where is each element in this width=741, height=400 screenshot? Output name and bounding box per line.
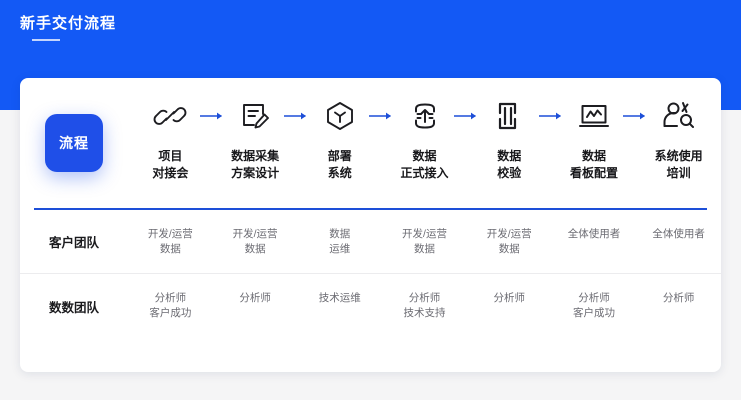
table-cell-line1: 全体使用者 [636,227,721,242]
flow-step-4-label: 数据 正式接入 [401,148,449,182]
table-cell-line1: 分析师 [382,291,467,306]
table-row: 数数团队 分析师 客户成功 分析师 技术运维 分析师 [20,274,721,338]
flow-step-5-label: 数据 校验 [497,148,521,182]
table-cell-line2: 数据 [467,242,552,257]
page-root: 新手交付流程 流程 项目 [0,0,741,400]
flow-step-3-label-line2: 系统 [328,165,352,182]
table-cell-line1: 开发/运营 [213,227,298,242]
table-row-cells: 分析师 客户成功 分析师 技术运维 分析师 技术支持 [128,291,721,321]
flow-step-1-label-line2: 对接会 [152,165,188,182]
steps-container: 项目 对接会 [128,78,721,208]
table-cell: 开发/运营 数据 [213,227,298,257]
table-cell: 开发/运营 数据 [382,227,467,257]
flow-step-2-label: 数据采集 方案设计 [231,148,279,182]
table-cell-line1: 分析师 [213,291,298,306]
copy-verify-icon [487,96,531,136]
page-title: 新手交付流程 [20,12,116,33]
table-cell: 分析师 [213,291,298,321]
hexagon-deploy-icon [318,96,362,136]
data-upload-icon [403,96,447,136]
flow-step-5-label-line1: 数据 [497,148,521,165]
flow-step-5-label-line2: 校验 [497,165,521,182]
table-cell-line2: 技术支持 [382,306,467,321]
table-row-head-shushu-team: 数数团队 [20,297,128,316]
flow-step-7-label: 系统使用 培训 [655,148,703,182]
flow-step-1-label: 项目 对接会 [152,148,188,182]
table-cell-line1: 分析师 [552,291,637,306]
table-row: 客户团队 开发/运营 数据 开发/运营 数据 数据 运维 开 [20,210,721,274]
flow-badge-cell: 流程 [20,78,128,208]
flow-step-6-label-line1: 数据 [570,148,618,165]
flow-step-4[interactable]: 数据 正式接入 [382,78,467,182]
flow-step-5[interactable]: 数据 校验 [467,78,552,182]
table-cell-line1: 分析师 [128,291,213,306]
table-row-head-customer-team: 客户团队 [20,232,128,251]
table-cell-line2: 数据 [128,242,213,257]
flow-step-6[interactable]: 数据 看板配置 [552,78,637,182]
table-row-cells: 开发/运营 数据 开发/运营 数据 数据 运维 开发/运营 数据 [128,227,721,257]
flow-step-7-label-line2: 培训 [655,165,703,182]
table-cell-line1: 数据 [297,227,382,242]
table-cell-line2: 客户成功 [552,306,637,321]
table-cell: 分析师 [636,291,721,321]
flow-step-2-label-line1: 数据采集 [231,148,279,165]
chart-monitor-icon [572,96,616,136]
link-icon [148,96,192,136]
table-cell-line1: 全体使用者 [552,227,637,242]
flow-badge: 流程 [45,114,103,172]
flow-step-7-label-line1: 系统使用 [655,148,703,165]
title-underline-accent [32,39,60,41]
table-cell-line1: 开发/运营 [382,227,467,242]
table-cell-line1: 开发/运营 [128,227,213,242]
table-cell: 全体使用者 [636,227,721,257]
user-training-icon [657,96,701,136]
flow-step-7[interactable]: 系统使用 培训 [636,78,721,182]
flow-step-1[interactable]: 项目 对接会 [128,78,213,182]
table-cell: 全体使用者 [552,227,637,257]
flow-step-6-label: 数据 看板配置 [570,148,618,182]
flow-step-3[interactable]: 部署 系统 [297,78,382,182]
flow-step-4-label-line2: 正式接入 [401,165,449,182]
flow-step-4-label-line1: 数据 [401,148,449,165]
table-cell-line2: 运维 [297,242,382,257]
table-cell: 分析师 [467,291,552,321]
flow-step-3-label: 部署 系统 [328,148,352,182]
table-cell: 分析师 客户成功 [128,291,213,321]
table-cell: 技术运维 [297,291,382,321]
table-cell-line1: 分析师 [467,291,552,306]
flow-step-1-label-line1: 项目 [152,148,188,165]
flow-card: 流程 项目 对接会 [20,78,721,372]
flow-step-6-label-line2: 看板配置 [570,165,618,182]
table-cell: 分析师 客户成功 [552,291,637,321]
table-cell-line1: 技术运维 [297,291,382,306]
flow-step-3-label-line1: 部署 [328,148,352,165]
flow-step-2[interactable]: 数据采集 方案设计 [213,78,298,182]
table-cell: 开发/运营 数据 [128,227,213,257]
table-cell-line2: 数据 [213,242,298,257]
flow-step-2-label-line2: 方案设计 [231,165,279,182]
document-edit-icon [233,96,277,136]
table-cell: 开发/运营 数据 [467,227,552,257]
table-cell: 数据 运维 [297,227,382,257]
table-cell-line2: 数据 [382,242,467,257]
table-cell-line1: 分析师 [636,291,721,306]
flow-steps-row: 流程 项目 对接会 [20,78,721,208]
roles-table: 客户团队 开发/运营 数据 开发/运营 数据 数据 运维 开 [20,210,721,338]
table-cell-line1: 开发/运营 [467,227,552,242]
table-cell-line2: 客户成功 [128,306,213,321]
table-cell: 分析师 技术支持 [382,291,467,321]
